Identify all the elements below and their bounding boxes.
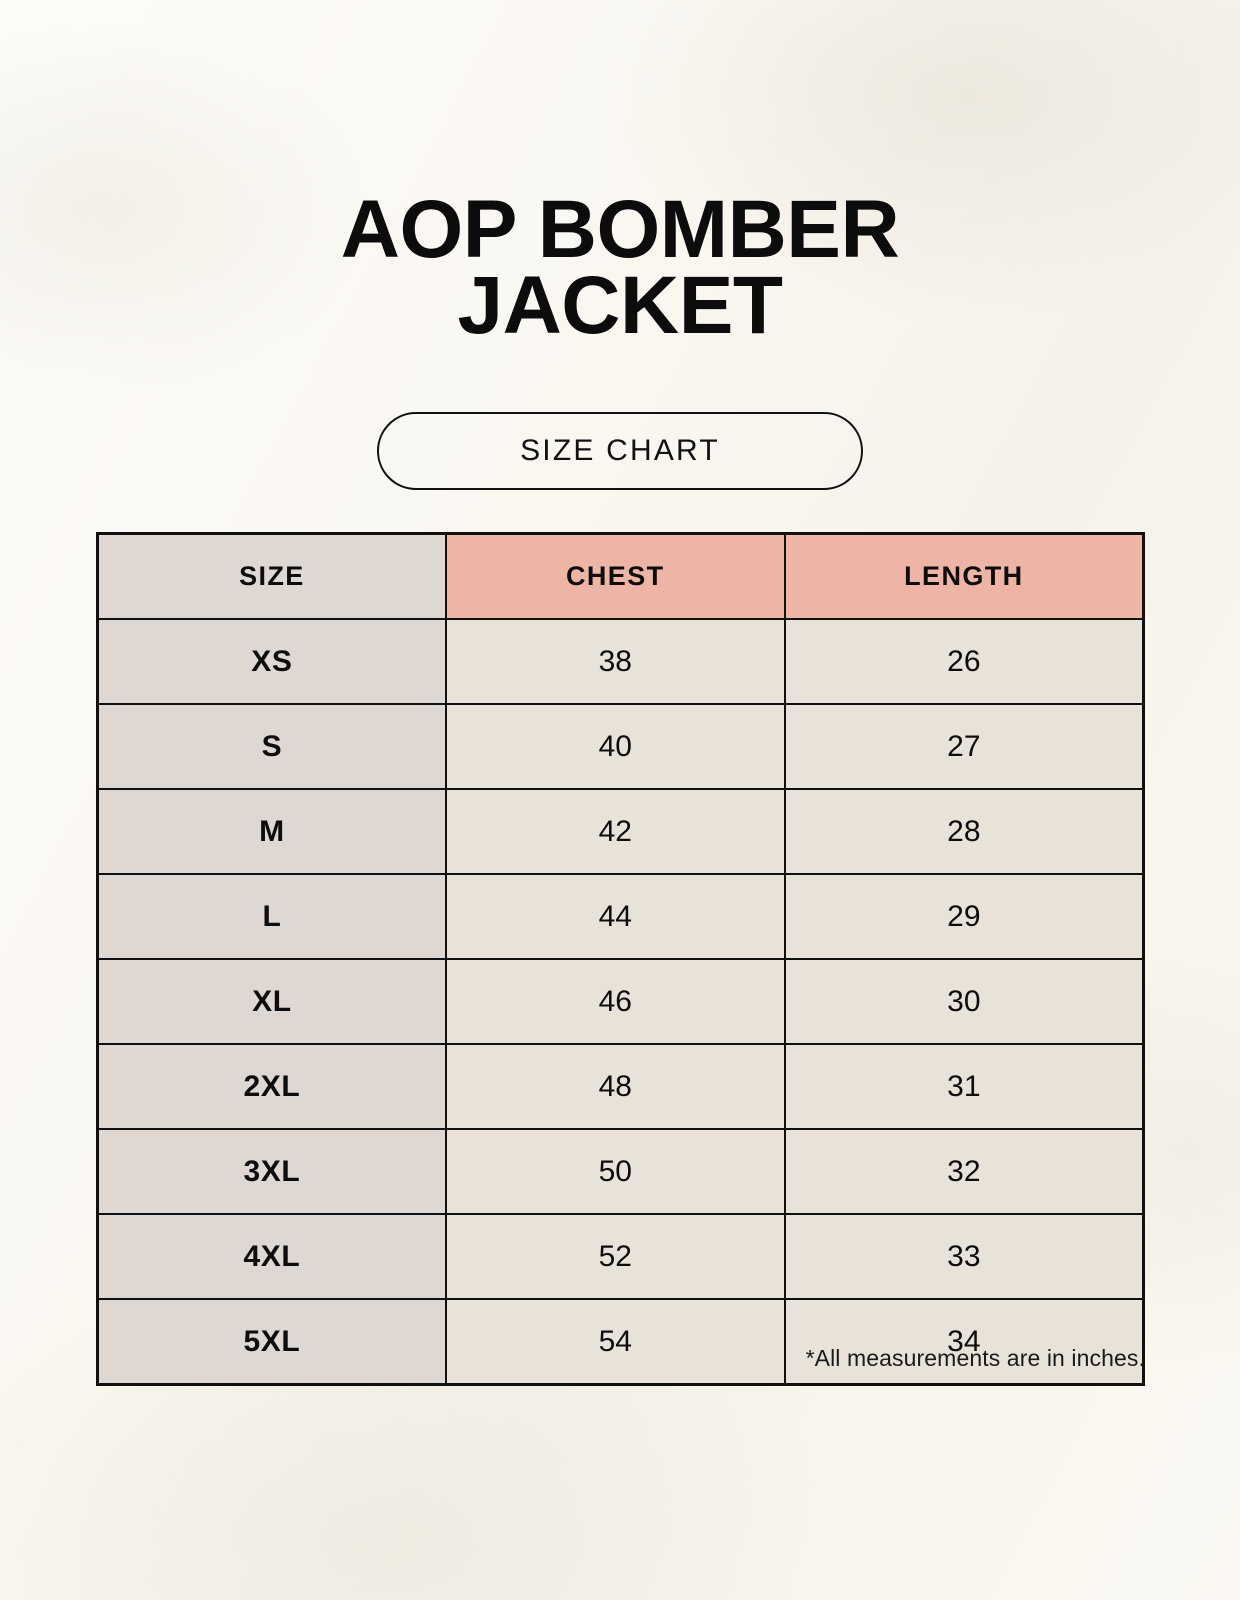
- size-table-head: SIZE CHEST LENGTH: [98, 534, 1144, 620]
- cell-chest: 44: [446, 874, 785, 959]
- cell-size: XS: [98, 619, 446, 704]
- table-header-row: SIZE CHEST LENGTH: [98, 534, 1144, 620]
- cell-chest: 40: [446, 704, 785, 789]
- cell-chest: 52: [446, 1214, 785, 1299]
- cell-size: L: [98, 874, 446, 959]
- product-title-line-2: JACKET: [457, 260, 782, 351]
- cell-chest: 38: [446, 619, 785, 704]
- cell-size: 2XL: [98, 1044, 446, 1129]
- table-row: L4429: [98, 874, 1144, 959]
- cell-length: 31: [785, 1044, 1144, 1129]
- cell-chest: 50: [446, 1129, 785, 1214]
- table-row: 2XL4831: [98, 1044, 1144, 1129]
- product-title: AOP BOMBER JACKET: [170, 192, 1070, 345]
- cell-length: 27: [785, 704, 1144, 789]
- cell-length: 28: [785, 789, 1144, 874]
- size-chart-badge-container: SIZE CHART: [0, 412, 1240, 490]
- table-row: XS3826: [98, 619, 1144, 704]
- cell-size: M: [98, 789, 446, 874]
- column-header-length: LENGTH: [785, 534, 1144, 620]
- size-table-body: XS3826S4027M4228L4429XL46302XL48313XL503…: [98, 619, 1144, 1385]
- cell-length: 33: [785, 1214, 1144, 1299]
- cell-size: S: [98, 704, 446, 789]
- table-row: 4XL5233: [98, 1214, 1144, 1299]
- table-row: S4027: [98, 704, 1144, 789]
- measurement-footnote: *All measurements are in inches.: [96, 1345, 1145, 1372]
- cell-length: 29: [785, 874, 1144, 959]
- size-chart-page: AOP BOMBER JACKET SIZE CHART SIZE CHEST …: [0, 0, 1240, 1600]
- cell-size: 4XL: [98, 1214, 446, 1299]
- cell-length: 32: [785, 1129, 1144, 1214]
- size-table: SIZE CHEST LENGTH XS3826S4027M4228L4429X…: [96, 532, 1145, 1386]
- cell-length: 26: [785, 619, 1144, 704]
- size-chart-badge: SIZE CHART: [377, 412, 863, 490]
- cell-chest: 42: [446, 789, 785, 874]
- cell-length: 30: [785, 959, 1144, 1044]
- column-header-size: SIZE: [98, 534, 446, 620]
- cell-size: XL: [98, 959, 446, 1044]
- table-row: XL4630: [98, 959, 1144, 1044]
- table-row: M4228: [98, 789, 1144, 874]
- size-table-container: SIZE CHEST LENGTH XS3826S4027M4228L4429X…: [96, 532, 1145, 1386]
- column-header-chest: CHEST: [446, 534, 785, 620]
- table-row: 3XL5032: [98, 1129, 1144, 1214]
- cell-chest: 48: [446, 1044, 785, 1129]
- cell-chest: 46: [446, 959, 785, 1044]
- cell-size: 3XL: [98, 1129, 446, 1214]
- page-title: AOP BOMBER JACKET: [0, 192, 1240, 345]
